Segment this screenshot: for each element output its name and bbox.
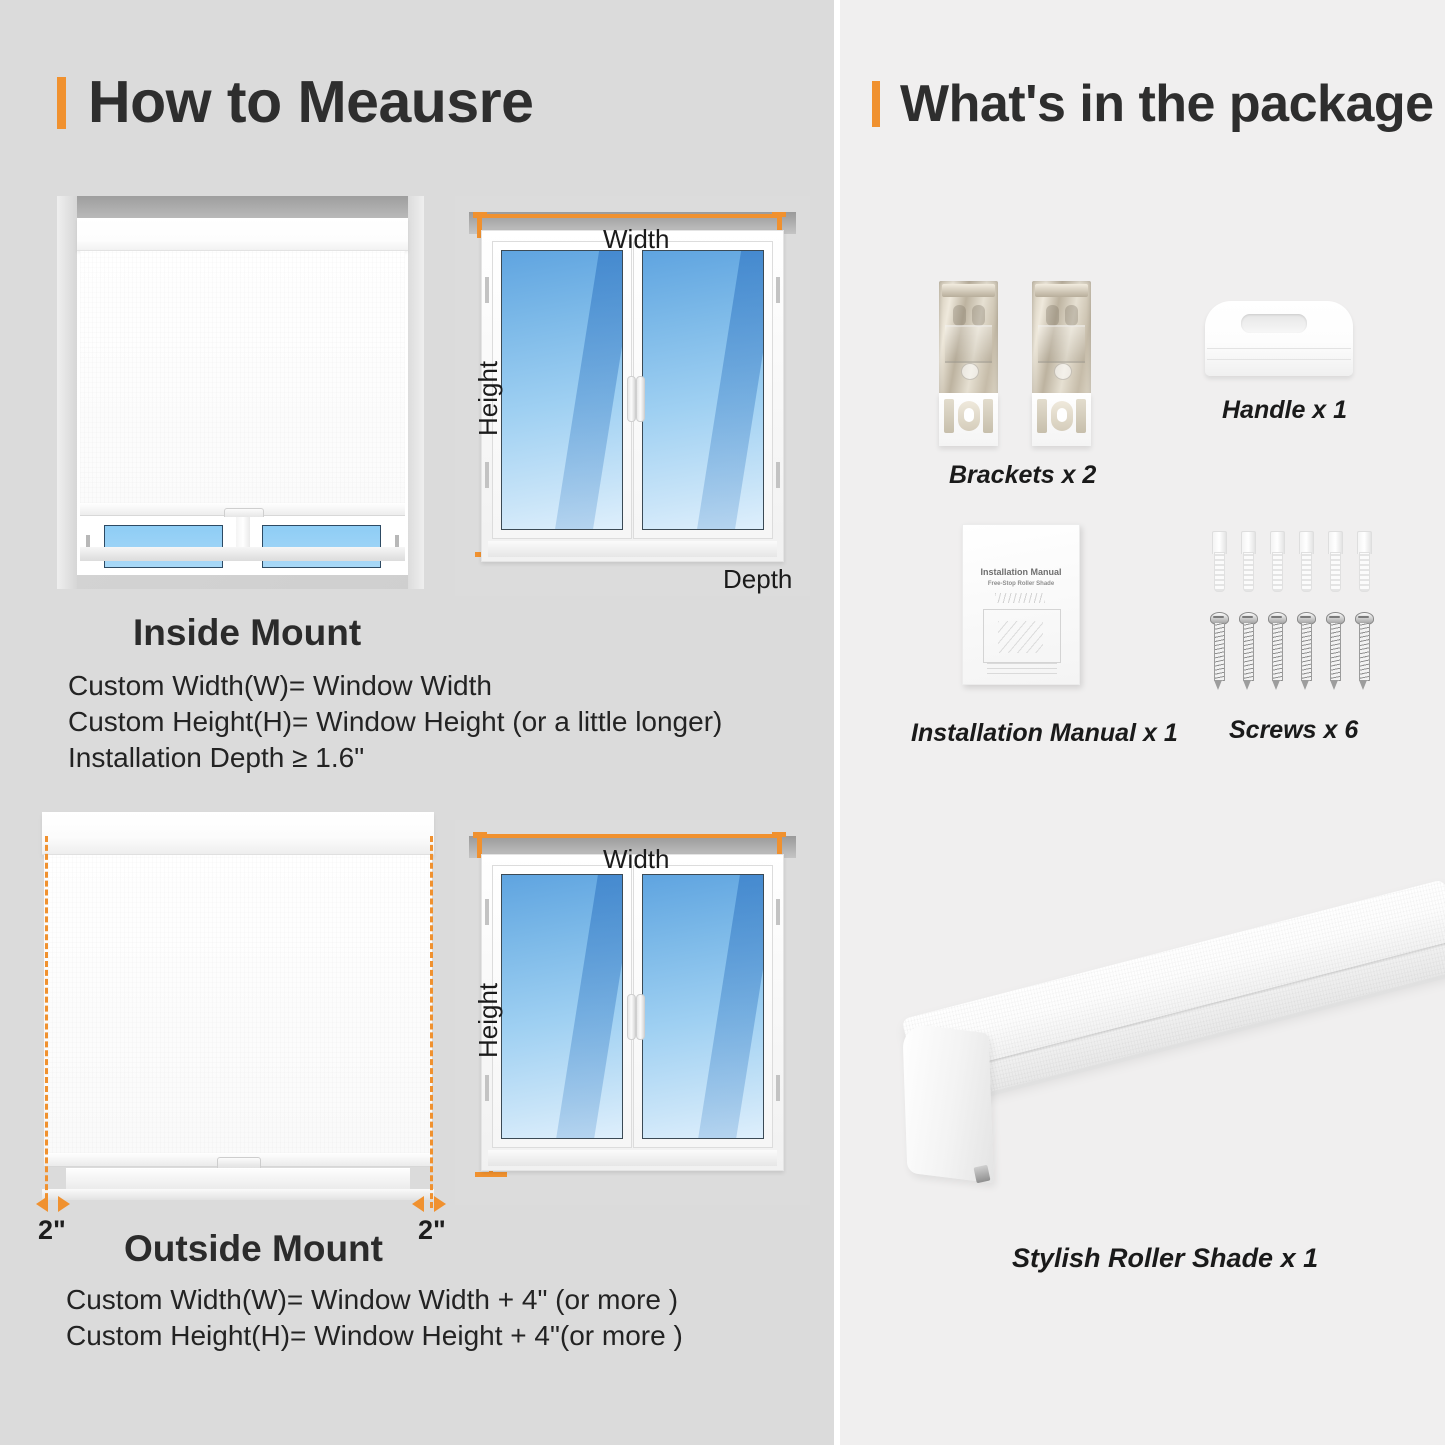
handle-label: Handle x 1 (1222, 396, 1347, 425)
window-handle-right-icon (636, 994, 645, 1040)
accent-bar-icon (872, 81, 880, 127)
wall-anchor-1 (1211, 531, 1226, 590)
bracket-slot-b (972, 305, 985, 326)
label-depth: Depth (723, 564, 792, 595)
overhang-label-right: 2" (418, 1215, 446, 1246)
recess-right-reveal (408, 196, 424, 589)
screw-5 (1326, 612, 1343, 690)
outside-mount-measure-diagram: Width Height (455, 820, 810, 1205)
how-to-measure-heading: How to Meausre (57, 73, 533, 132)
frame-hinge-top-right-icon (776, 277, 780, 303)
outside-mount-shade-illustration (42, 812, 434, 1200)
bracket-clip-right (983, 399, 993, 433)
inside-mount-line-1: Custom Width(W)= Window Width (68, 670, 492, 702)
bracket-screw-hole (1054, 363, 1072, 380)
roller-shade-label: Stylish Roller Shade x 1 (1012, 1243, 1318, 1274)
manual-cover-subtitle: Free-Stop Roller Shade (963, 581, 1079, 587)
window-glass-left (501, 250, 623, 530)
shade-headrail (42, 812, 434, 855)
window-handle-left-icon (627, 376, 636, 422)
window-frame (481, 854, 784, 1171)
screw-3 (1268, 612, 1285, 690)
inside-mount-shade-illustration (57, 196, 424, 589)
window-glass-band (80, 517, 405, 561)
manual-cover-footer-lines (987, 663, 1057, 674)
screws-label: Screws x 6 (1229, 716, 1358, 745)
frame-hinge-bottom-right-icon (776, 1075, 780, 1101)
bracket-clip-left (1037, 399, 1047, 433)
recess-left-reveal (57, 196, 77, 589)
label-height: Height (473, 983, 504, 1058)
roller-shade-end-cap (902, 1023, 994, 1184)
bracket-part-2 (1032, 281, 1091, 446)
frame-hinge-bottom-left-icon (485, 1075, 489, 1101)
handle-grip-slot (1241, 314, 1307, 333)
infographic-page: How to Meausre (0, 0, 1445, 1445)
handle-ridge-2 (1207, 359, 1351, 360)
window-glass-right (642, 250, 764, 530)
bracket-clip-left (944, 399, 954, 433)
window-sash-left (492, 865, 632, 1148)
package-contents-heading: What's in the package (872, 78, 1434, 130)
glass-glare (551, 250, 623, 530)
bracket-plastic-base (1032, 393, 1091, 446)
handle-part (1205, 301, 1353, 376)
bracket-ridge (945, 325, 992, 363)
overhang-label-left: 2" (38, 1215, 66, 1246)
screw-2 (1239, 612, 1256, 690)
frame-hinge-top-right-icon (776, 899, 780, 925)
bracket-screw-hole (961, 363, 979, 380)
bracket-metal-body (939, 281, 998, 399)
window-sash-left (492, 241, 632, 539)
bracket-center-boss (958, 401, 980, 431)
package-contents-heading-text: What's in the package (900, 78, 1434, 130)
screw-6 (1355, 612, 1372, 690)
handle-body (1205, 301, 1353, 376)
bracket-slot-a (1046, 305, 1059, 326)
wall-anchor-6 (1356, 531, 1371, 590)
screw-1 (1210, 612, 1227, 690)
inside-mount-line-2: Custom Height(H)= Window Height (or a li… (68, 706, 722, 738)
wall-anchor-4 (1298, 531, 1313, 590)
shade-fabric (80, 251, 405, 503)
mark-width-line (473, 834, 778, 838)
label-width: Width (603, 844, 669, 875)
window-sash-right (633, 241, 773, 539)
installation-manual-label: Installation Manual x 1 (911, 719, 1178, 748)
roller-shade-product (905, 900, 1440, 1200)
overhang-guide-left (45, 836, 48, 1208)
bracket-plastic-base (939, 393, 998, 446)
manual-cover-scribble (995, 593, 1045, 603)
outside-mount-title: Outside Mount (124, 1228, 383, 1270)
manual-cover-title: Installation Manual (963, 567, 1079, 577)
bracket-center-boss (1051, 401, 1073, 431)
shade-fabric (44, 855, 432, 1153)
inside-mount-line-3: Installation Depth ≥ 1.6" (68, 742, 364, 774)
inside-mount-measure-diagram: Width Height Depth (455, 196, 810, 596)
inside-mount-title: Inside Mount (133, 612, 361, 654)
window-apron (488, 541, 777, 557)
outside-mount-line-2: Custom Height(H)= Window Height + 4"(or … (66, 1320, 683, 1352)
wall-anchor-3 (1269, 531, 1284, 590)
window-sash-right (633, 865, 773, 1148)
shade-assembly (77, 218, 408, 575)
window-glass-right (642, 874, 764, 1139)
bracket-part-1 (939, 281, 998, 446)
window-sill (42, 1189, 434, 1200)
bracket-ridge (1038, 325, 1085, 363)
shade-valance (77, 218, 408, 251)
window-frame (481, 230, 784, 562)
window-sill (80, 547, 405, 561)
manual-cover-diagram (998, 621, 1044, 652)
handle-ridge-1 (1207, 348, 1351, 349)
label-width: Width (603, 224, 669, 255)
brackets-label: Brackets x 2 (949, 461, 1096, 490)
outside-mount-line-1: Custom Width(W)= Window Width + 4" (or m… (66, 1284, 678, 1316)
frame-hinge-bottom-right-icon (776, 462, 780, 488)
frame-hinge-bottom-left-icon (485, 462, 489, 488)
bracket-lip (942, 284, 995, 297)
frame-hinge-top-left-icon (485, 277, 489, 303)
window-apron (488, 1150, 777, 1166)
how-to-measure-heading-text: How to Meausre (88, 73, 533, 132)
manual-cover-diagram-box (983, 609, 1061, 663)
glass-glare (552, 874, 622, 1139)
roller-shade-metal-tip (973, 1165, 990, 1184)
wall-anchor-5 (1327, 531, 1342, 590)
overhang-arrow-left (36, 1196, 70, 1212)
glass-glare (692, 250, 764, 530)
bracket-lip (1035, 284, 1088, 297)
label-height: Height (473, 361, 504, 436)
frame-hinge-top-left-icon (485, 899, 489, 925)
overhang-guide-right (430, 836, 433, 1208)
screw-4 (1297, 612, 1314, 690)
bracket-metal-body (1032, 281, 1091, 399)
accent-bar-icon (57, 77, 66, 129)
bracket-slot-b (1065, 305, 1078, 326)
overhang-arrow-right (412, 1196, 446, 1212)
recess-top-reveal (57, 196, 424, 218)
wall-anchor-2 (1240, 531, 1255, 590)
glass-glare (694, 874, 764, 1139)
window-handle-left-icon (627, 994, 636, 1040)
installation-manual-part: Installation Manual Free-Stop Roller Sha… (962, 524, 1080, 685)
bracket-slot-a (953, 305, 966, 326)
window-glass-left (501, 874, 623, 1139)
mark-width-line (473, 214, 778, 218)
window-handle-right-icon (636, 376, 645, 422)
bracket-clip-right (1076, 399, 1086, 433)
